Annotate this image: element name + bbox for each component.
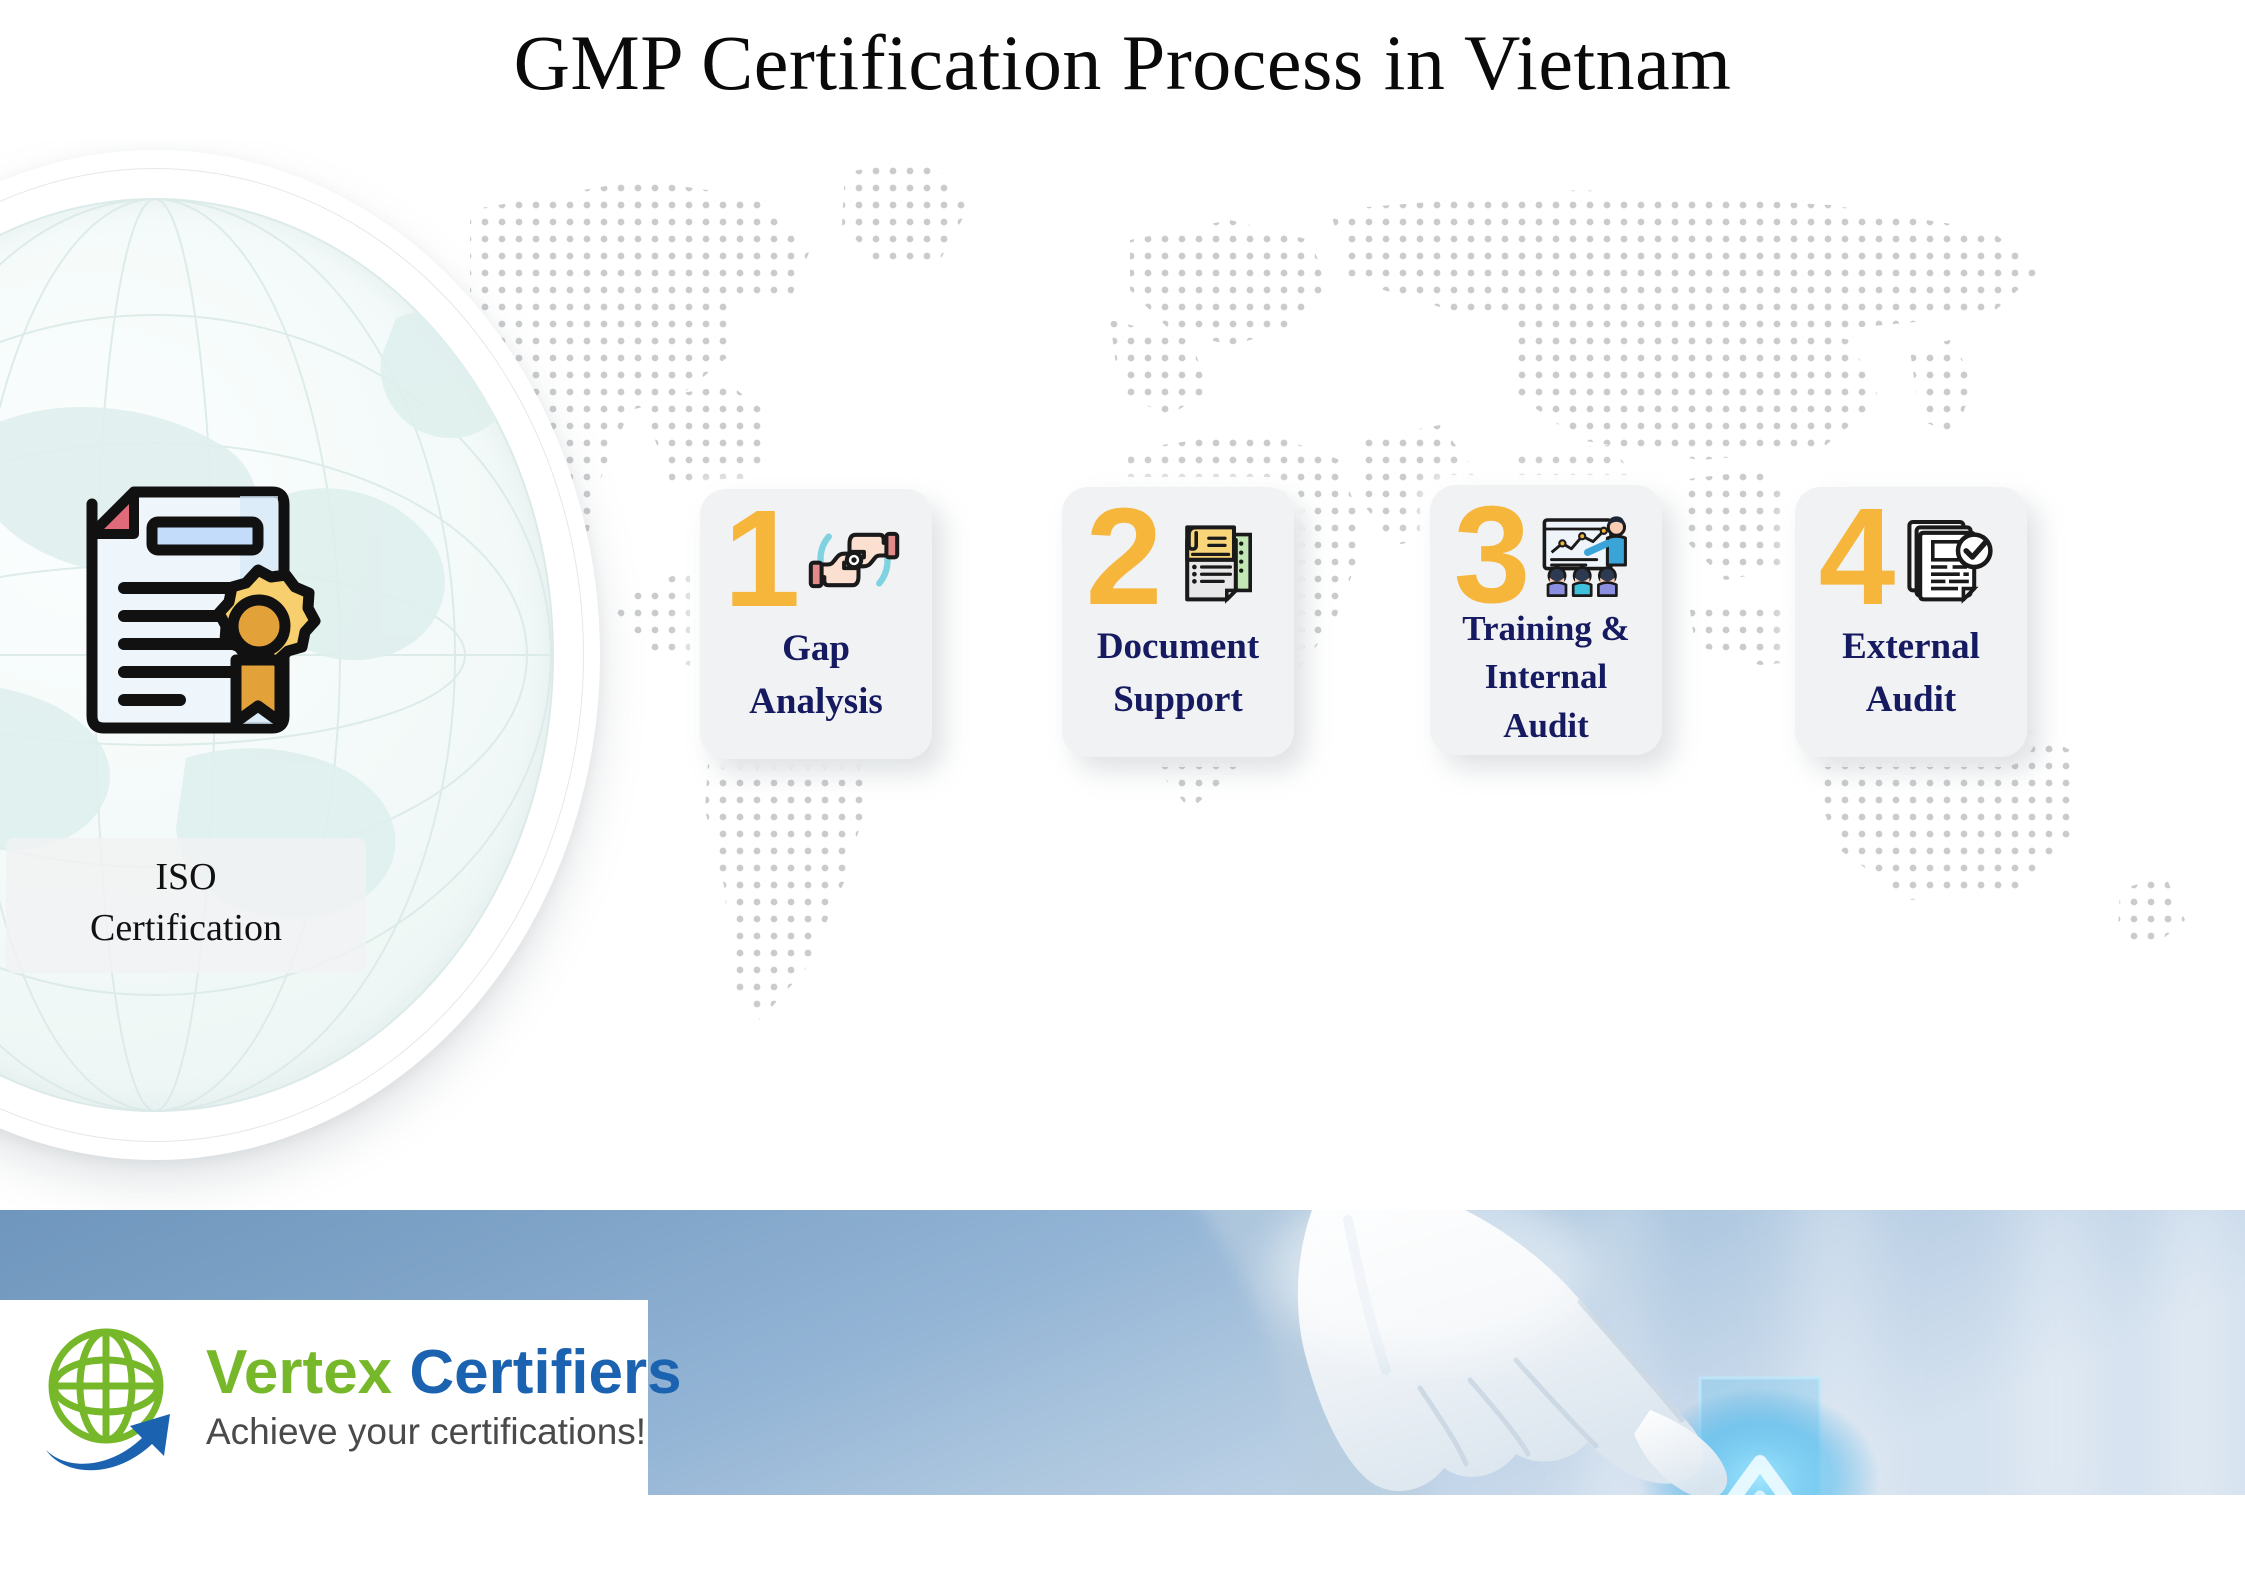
- step-card-3-header: 3: [1430, 491, 1662, 621]
- step-1-label-line2: Analysis: [749, 681, 883, 722]
- iso-label-line2: Certification: [90, 907, 282, 949]
- step-3-label-line2: Internal: [1485, 657, 1608, 696]
- globe-arrow-logo-icon: [30, 1318, 190, 1478]
- step-card-1[interactable]: 1: [700, 489, 932, 759]
- step-1-label-line1: Gap: [782, 628, 850, 669]
- step-2-label-line1: Document: [1097, 626, 1259, 667]
- step-number-1: 1: [724, 503, 797, 616]
- infographic-canvas: GMP Certification Process in Vietnam: [0, 0, 2245, 1587]
- step-card-4-label: External Audit: [1799, 621, 2023, 726]
- step-card-4-header: 4: [1795, 493, 2027, 623]
- logo-name-part2: Certifiers: [409, 1338, 681, 1407]
- step-3-label-line1: Training &: [1462, 609, 1630, 648]
- iso-label-line1: ISO: [155, 856, 216, 898]
- step-3-label-line3: Audit: [1503, 706, 1589, 745]
- logo-text-block: Vertex Certifiers Achieve your certifica…: [206, 1341, 682, 1455]
- step-number-4: 4: [1819, 501, 1892, 614]
- step-2-label-line2: Support: [1113, 679, 1243, 720]
- step-card-3-label: Training & Internal Audit: [1434, 605, 1658, 750]
- step-4-label-line2: Audit: [1866, 679, 1956, 720]
- logo-tagline: Achieve your certifications!: [206, 1410, 682, 1454]
- step-number-2: 2: [1086, 501, 1159, 614]
- step-card-2-label: Document Support: [1066, 621, 1290, 726]
- footer-whitespace: [0, 1495, 2245, 1587]
- certificate-award-icon: [40, 460, 340, 760]
- documents-check-icon: [1895, 504, 2003, 612]
- logo-name-part1: Vertex: [206, 1338, 392, 1407]
- step-card-4[interactable]: 4: [1795, 487, 2027, 757]
- training-presentation-icon: [1530, 502, 1638, 610]
- step-4-label-line1: External: [1842, 626, 1980, 667]
- step-card-3[interactable]: 3: [1430, 485, 1662, 755]
- page-title: GMP Certification Process in Vietnam: [0, 22, 2245, 104]
- content-area: ISO Certification 1: [0, 140, 2245, 1210]
- step-card-1-header: 1: [700, 495, 932, 625]
- logo-company-name: Vertex Certifiers: [206, 1341, 682, 1404]
- iso-certification-hero: ISO Certification: [0, 150, 600, 1190]
- step-card-2-header: 2: [1062, 493, 1294, 623]
- step-card-1-label: Gap Analysis: [704, 623, 928, 728]
- handshake-partnership-icon: [800, 506, 908, 614]
- company-logo[interactable]: Vertex Certifiers Achieve your certifica…: [0, 1300, 648, 1496]
- step-number-3: 3: [1454, 499, 1527, 612]
- iso-certification-label: ISO Certification: [6, 838, 366, 973]
- document-clipboard-icon: [1162, 504, 1270, 612]
- step-card-2[interactable]: 2: [1062, 487, 1294, 757]
